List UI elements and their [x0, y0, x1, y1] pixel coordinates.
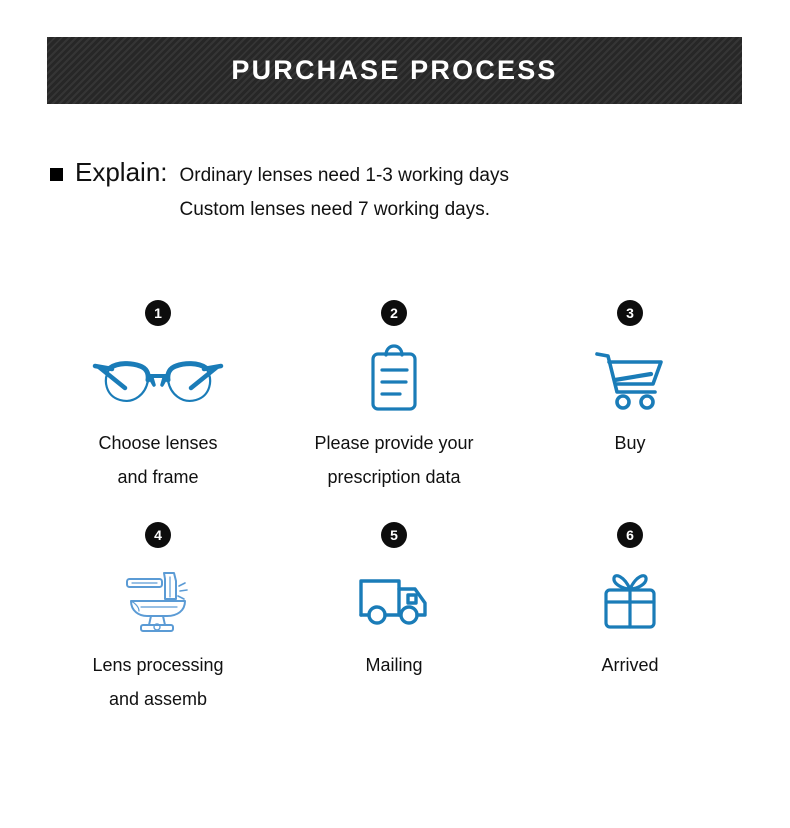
clipboard-icon [364, 334, 424, 426]
purchase-steps-grid: 1 Choose lenses and [40, 300, 750, 716]
explain-section: Explain: Ordinary lenses need 1-3 workin… [50, 155, 509, 227]
banner-texture: PURCHASE PROCESS [47, 37, 742, 104]
glasses-icon [92, 334, 224, 426]
step-2-label-line1: Please provide your [314, 433, 473, 453]
step-number-badge: 6 [617, 522, 643, 548]
explain-line-1: Ordinary lenses need 1-3 working days [180, 159, 510, 193]
step-1-label-line2: and frame [98, 460, 217, 494]
step-number-badge: 5 [381, 522, 407, 548]
step-5-label-line1: Mailing [365, 655, 422, 675]
step-4-label: Lens processing and assemb [92, 648, 223, 716]
explain-label: Explain: [75, 155, 168, 189]
step-5-mailing: 5 Mailing [276, 522, 512, 716]
step-1-label-line1: Choose lenses [98, 433, 217, 453]
step-3-label: Buy [614, 426, 645, 460]
step-4-lens-processing: 4 Lens processing an [40, 522, 276, 716]
step-3-label-line1: Buy [614, 433, 645, 453]
step-3-buy: 3 Buy [512, 300, 748, 494]
delivery-truck-icon [355, 556, 433, 648]
page-header-banner: PURCHASE PROCESS [47, 37, 742, 104]
shopping-cart-icon [593, 334, 667, 426]
step-1-choose-lenses: 1 Choose lenses and [40, 300, 276, 494]
step-2-label-line2: prescription data [314, 460, 473, 494]
page-title: PURCHASE PROCESS [231, 55, 557, 86]
step-5-label: Mailing [365, 648, 422, 682]
step-4-label-line2: and assemb [92, 682, 223, 716]
step-1-label: Choose lenses and frame [98, 426, 217, 494]
explain-text-block: Ordinary lenses need 1-3 working days Cu… [180, 155, 510, 227]
step-number-badge: 4 [145, 522, 171, 548]
explain-line-2: Custom lenses need 7 working days. [180, 193, 510, 227]
step-2-label: Please provide your prescription data [314, 426, 473, 494]
step-number-badge: 2 [381, 300, 407, 326]
step-number-badge: 3 [617, 300, 643, 326]
step-2-provide-prescription: 2 Please provide your prescription data [276, 300, 512, 494]
step-number-badge: 1 [145, 300, 171, 326]
gift-box-icon [597, 556, 663, 648]
step-6-arrived: 6 Arrived [512, 522, 748, 716]
step-6-label: Arrived [601, 648, 658, 682]
step-4-label-line1: Lens processing [92, 655, 223, 675]
anvil-hammer-icon [121, 556, 195, 648]
square-bullet-icon [50, 168, 63, 181]
step-6-label-line1: Arrived [601, 655, 658, 675]
